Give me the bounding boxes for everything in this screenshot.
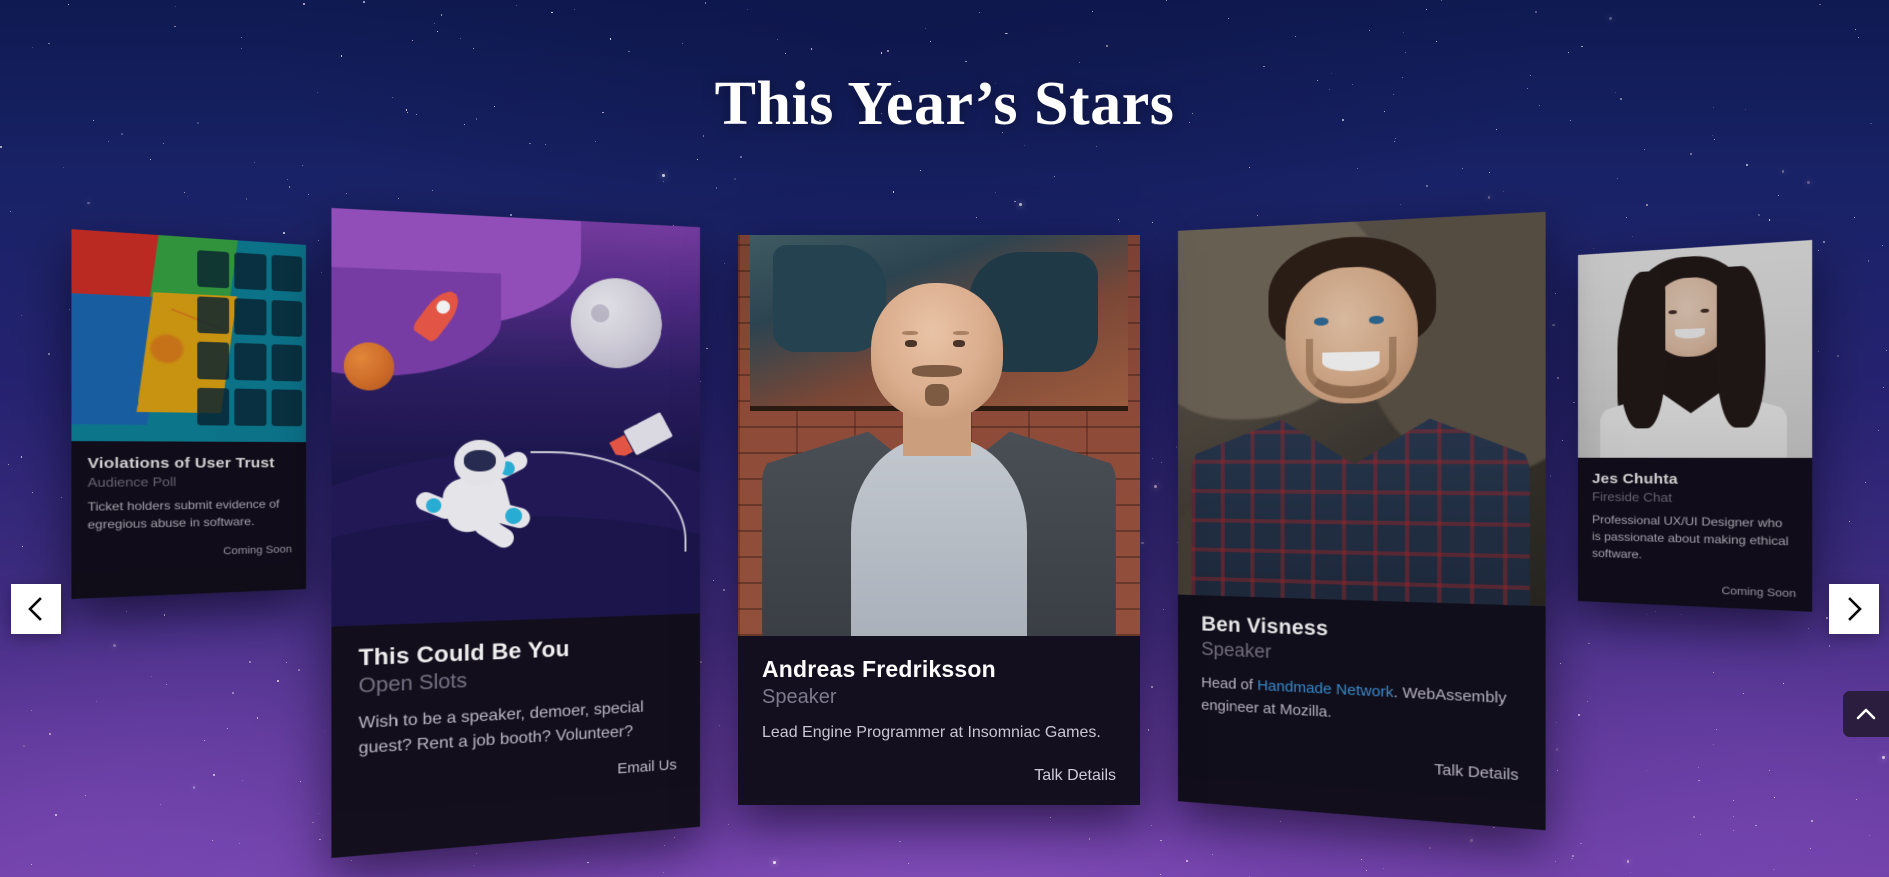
card-role: Audience Poll — [88, 474, 292, 490]
card-cta[interactable]: Email Us — [359, 757, 677, 797]
page-title: This Year’s Stars — [0, 72, 1889, 137]
card-media — [1578, 240, 1812, 458]
carousel-card-active[interactable]: Andreas Fredriksson Speaker Lead Engine … — [738, 235, 1140, 805]
card-title: Jes Chuhta — [1592, 471, 1796, 489]
card-description: Head of Handmade Network. WebAssembly en… — [1201, 672, 1518, 735]
carousel-card[interactable]: This Could Be You Open Slots Wish to be … — [331, 208, 700, 858]
card-media — [71, 229, 306, 442]
card-cta: Coming Soon — [88, 544, 292, 562]
carousel-card[interactable]: Ben Visness Speaker Head of Handmade Net… — [1178, 212, 1546, 831]
card-body: Ben Visness Speaker Head of Handmade Net… — [1178, 595, 1546, 803]
card-media — [738, 235, 1140, 636]
card-body: Andreas Fredriksson Speaker Lead Engine … — [738, 636, 1140, 799]
portrait-andreas-fredriksson — [738, 235, 1140, 636]
card-description-text: Wish to be a speaker, demoer, special gu… — [359, 699, 644, 758]
astronaut-space-illustration — [331, 208, 700, 627]
card-description-text: Lead Engine Programmer at Insomniac Game… — [762, 724, 1101, 741]
card-cta[interactable]: Talk Details — [1201, 745, 1518, 784]
card-description: Wish to be a speaker, demoer, special gu… — [359, 694, 677, 761]
card-role: Speaker — [762, 686, 1116, 709]
card-cta: Coming Soon — [1592, 580, 1796, 600]
back-to-top-button[interactable] — [1843, 691, 1889, 737]
tech-collage-image — [71, 229, 306, 442]
handmade-network-link[interactable]: Handmade Network — [1257, 677, 1393, 701]
chevron-right-icon — [1844, 596, 1864, 622]
carousel-next-button[interactable] — [1829, 584, 1879, 634]
page-root: This Year’s Stars Violations of User Tru… — [0, 0, 1889, 877]
card-description-text: Ticket holders submit evidence of egregi… — [88, 497, 280, 531]
card-media — [331, 208, 700, 627]
card-cta[interactable]: Talk Details — [762, 767, 1116, 785]
portrait-ben-visness — [1178, 212, 1546, 606]
astronaut-icon — [410, 434, 538, 558]
card-description: Ticket holders submit evidence of egregi… — [88, 495, 292, 533]
card-description: Professional UX/UI Designer who is passi… — [1592, 511, 1796, 568]
card-description: Lead Engine Programmer at Insomniac Game… — [762, 721, 1116, 745]
card-title: Violations of User Trust — [88, 455, 292, 472]
card-description-text: Professional UX/UI Designer who is passi… — [1592, 513, 1789, 561]
card-role: Fireside Chat — [1592, 490, 1796, 507]
card-body: Jes Chuhta Fireside Chat Professional UX… — [1578, 458, 1812, 611]
carousel-card[interactable]: Violations of User Trust Audience Poll T… — [71, 229, 306, 599]
chevron-left-icon — [26, 596, 46, 622]
portrait-jes-chuhta — [1578, 240, 1812, 458]
carousel-card[interactable]: Jes Chuhta Fireside Chat Professional UX… — [1578, 240, 1812, 612]
card-body: Violations of User Trust Audience Poll T… — [71, 441, 306, 572]
card-media — [1178, 212, 1546, 606]
card-description-prefix: Head of — [1201, 674, 1257, 694]
carousel-prev-button[interactable] — [11, 584, 61, 634]
card-title: Andreas Fredriksson — [762, 656, 1116, 683]
chevron-up-icon — [1855, 706, 1877, 722]
card-body: This Could Be You Open Slots Wish to be … — [331, 613, 700, 815]
